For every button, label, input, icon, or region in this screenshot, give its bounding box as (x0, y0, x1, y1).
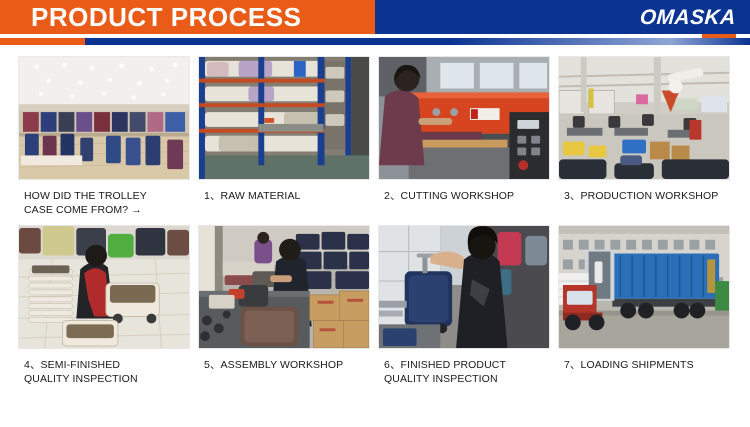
brand-logo: OMASKA (640, 7, 736, 40)
process-step-6[interactable]: 5、ASSEMBLY WORKSHOP (198, 225, 370, 386)
process-step-6-caption: 5、ASSEMBLY WORKSHOP (198, 349, 370, 372)
process-step-4-caption: 3、PRODUCTION WORKSHOP (558, 180, 730, 203)
process-step-8-caption: 7、LOADING SHIPMENTS (558, 349, 730, 372)
header-orange-accent-tab (0, 38, 78, 45)
process-step-1[interactable]: HOW DID THE TROLLEY CASE COME FROM? → (18, 56, 190, 217)
luggage-showroom-photo (18, 56, 190, 180)
process-step-2[interactable]: 1、RAW MATERIAL (198, 56, 370, 217)
process-row-1: HOW DID THE TROLLEY CASE COME FROM? → (0, 56, 750, 217)
process-step-2-caption: 1、RAW MATERIAL (198, 180, 370, 203)
brand-logo-text: OMASKA (640, 7, 737, 28)
process-steps-grid: HOW DID THE TROLLEY CASE COME FROM? → (0, 56, 750, 386)
semi-finished-inspection-photo (18, 225, 190, 349)
process-step-3[interactable]: 2、CUTTING WORKSHOP (378, 56, 550, 217)
process-step-7-caption: 6、FINISHED PRODUCT QUALITY INSPECTION (378, 349, 550, 386)
process-step-5-caption: 4、SEMI-FINISHED QUALITY INSPECTION (18, 349, 190, 386)
cutting-workshop-photo (378, 56, 550, 180)
finished-product-inspection-photo (378, 225, 550, 349)
process-step-8[interactable]: 7、LOADING SHIPMENTS (558, 225, 730, 386)
raw-material-warehouse-photo (198, 56, 370, 180)
process-row-2: 4、SEMI-FINISHED QUALITY INSPECTION (0, 225, 750, 386)
header-blue-underline-strip (85, 38, 750, 45)
process-step-4[interactable]: 3、PRODUCTION WORKSHOP (558, 56, 730, 217)
assembly-workshop-photo (198, 225, 370, 349)
process-step-1-caption: HOW DID THE TROLLEY CASE COME FROM? → (18, 180, 190, 217)
production-workshop-photo (558, 56, 730, 180)
page-header: PRODUCT PROCESS OMASKA (0, 0, 750, 52)
page-title: PRODUCT PROCESS (31, 4, 301, 31)
process-step-3-caption: 2、CUTTING WORKSHOP (378, 180, 550, 203)
process-step-7[interactable]: 6、FINISHED PRODUCT QUALITY INSPECTION (378, 225, 550, 386)
product-process-page: PRODUCT PROCESS OMASKA (0, 0, 750, 427)
process-step-5[interactable]: 4、SEMI-FINISHED QUALITY INSPECTION (18, 225, 190, 386)
loading-shipments-photo (558, 225, 730, 349)
